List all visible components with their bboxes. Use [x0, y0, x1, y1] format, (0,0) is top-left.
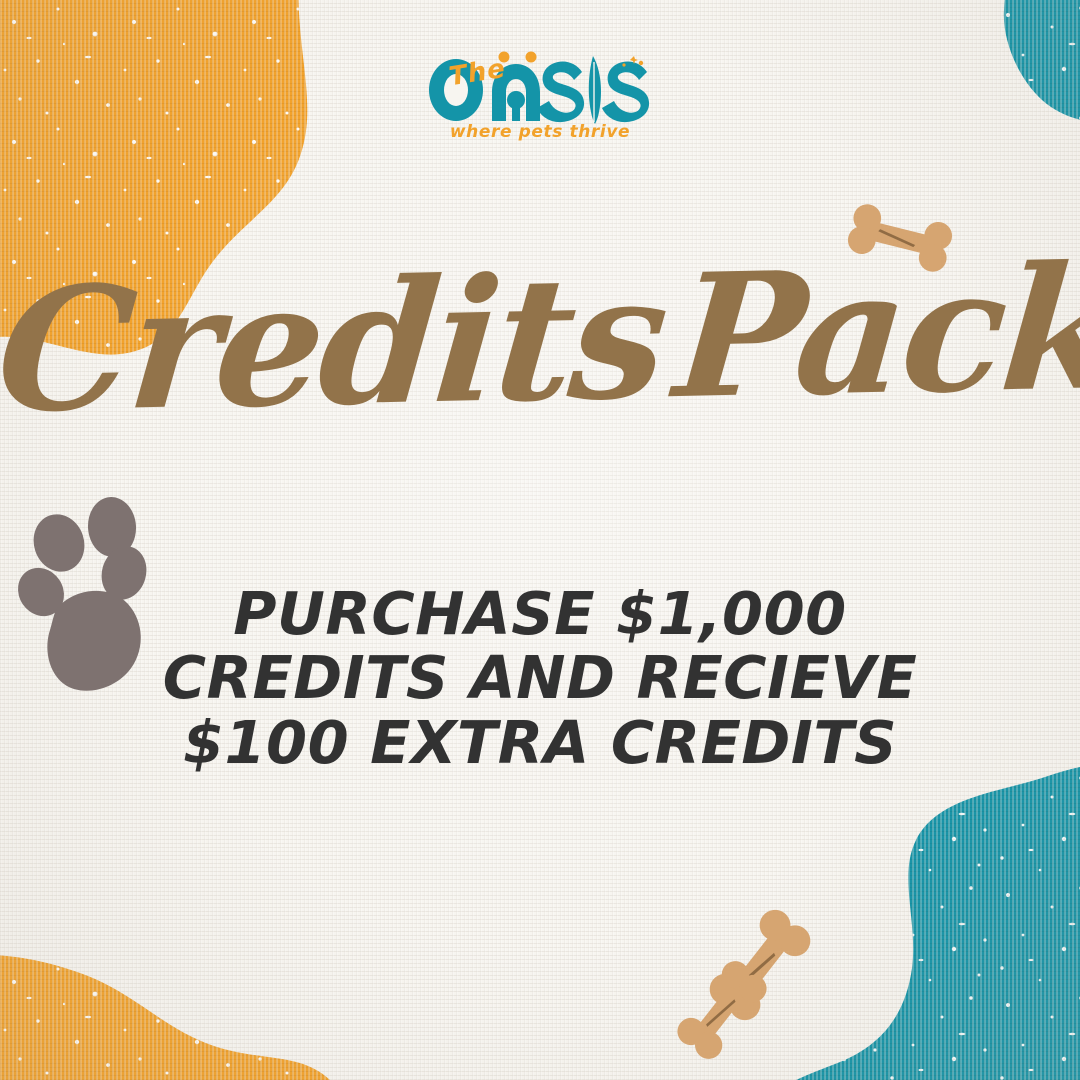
offer-line-1: PURCHASE $1,000 [0, 582, 1080, 646]
logo-tagline: where pets thrive [0, 122, 1080, 142]
offer-line-2: CREDITS AND RECIEVE [0, 646, 1080, 710]
offer-text-block: PURCHASE $1,000 CREDITS AND RECIEVE $100… [0, 582, 1080, 775]
logo-letter-s2 [602, 61, 649, 122]
logo-letter-s1 [537, 61, 584, 122]
offer-line-3: $100 EXTRA CREDITS [0, 711, 1080, 775]
brand-logo: The [0, 48, 1080, 142]
logo-letter-i-feather-icon [589, 56, 601, 124]
headline-word-credits: Credits [0, 237, 671, 451]
poster-canvas: The [0, 0, 1080, 1080]
logo-dot-right [526, 52, 537, 63]
headline-word-package: Package [669, 221, 1080, 437]
page-title: CreditsPackage [0, 244, 1080, 437]
